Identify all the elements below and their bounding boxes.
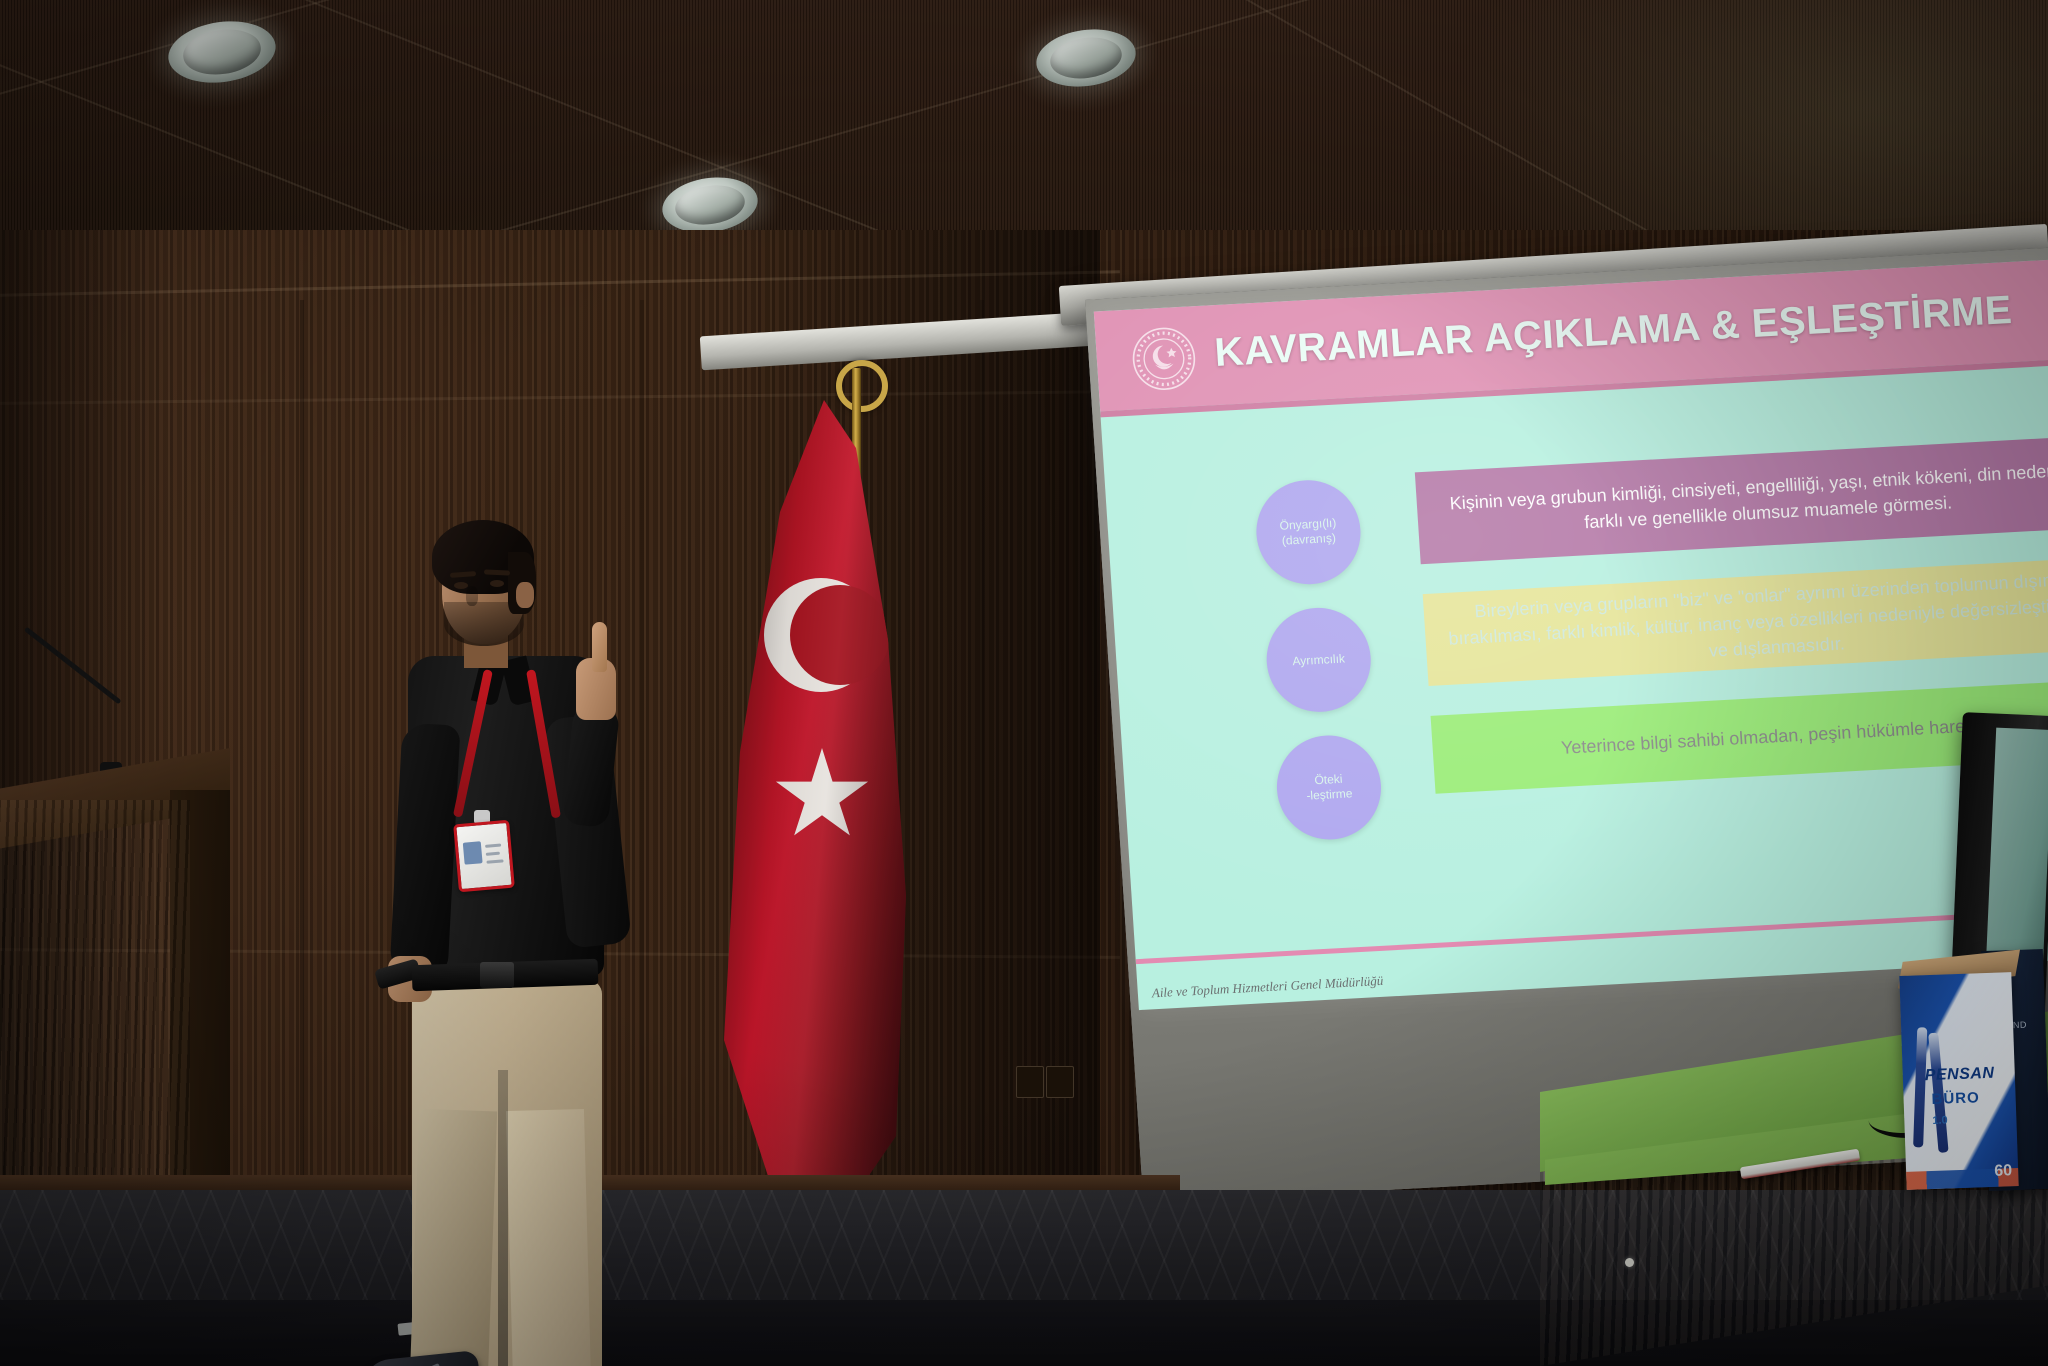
definition-box-yellow: Bireylerin veya grupların "biz" ve "onla…: [1423, 556, 2048, 686]
pen-box-brand: PENSAN: [1924, 1064, 2013, 1085]
concept-circle-otekilestirme: Öteki -leştirme: [1274, 733, 1385, 842]
concept-circle-ayrimcilik: Ayrımcılık: [1263, 605, 1374, 714]
definition-box-pink: Kişinin veya grubun kimliği, cinsiyeti, …: [1415, 435, 2048, 565]
pen-box-count: 60: [1994, 1162, 2012, 1181]
presenter-index-finger: [592, 622, 607, 672]
belt-buckle: [480, 962, 514, 988]
presenter-eye-right: [490, 580, 504, 587]
definition-text: Yeterince bilgi sahibi olmadan, peşin hü…: [1560, 711, 2005, 761]
definition-text: Kişinin veya grubun kimliği, cinsiyeti, …: [1438, 456, 2048, 544]
turkish-ministry-emblem-icon: [1129, 324, 1199, 393]
definition-text: Bireylerin veya grupların "biz" ve "onla…: [1445, 564, 2048, 678]
wooden-lectern: [0, 800, 190, 1240]
presenter-ear: [516, 582, 534, 608]
id-badge: [453, 820, 515, 893]
presenter: [380, 510, 700, 1366]
trouser-seam: [498, 1070, 508, 1366]
slide-footer-rule: [1136, 907, 2048, 964]
presenter-nose: [466, 586, 478, 606]
wall-socket[interactable]: [1046, 1066, 1074, 1098]
presenter-leg-left: [409, 1109, 497, 1366]
flag-finial: [836, 360, 888, 412]
wall-panel-seam: [300, 300, 304, 1200]
badge-photo: [463, 841, 483, 864]
circle-line-1: Öteki: [1314, 772, 1343, 787]
pen-box-product: BÜRO: [1931, 1088, 2012, 1108]
concept-circle-onyargi: Önyargı(lı) (davranış): [1253, 478, 1364, 587]
desk-drawer-knob[interactable]: [1625, 1258, 1634, 1267]
circle-line-2: -leştirme: [1306, 786, 1353, 802]
presentation-room-photo: KAVRAMLAR AÇIKLAMA & EŞLEŞTİRME Önyargı(…: [0, 0, 2048, 1366]
pen-box-size: 1.0: [1932, 1114, 1948, 1127]
presenter-leg-right: [506, 1109, 592, 1366]
presenter-eye-left: [454, 582, 468, 589]
projected-slide: KAVRAMLAR AÇIKLAMA & EŞLEŞTİRME Önyargı(…: [1094, 260, 2048, 1010]
definition-box-green: Yeterince bilgi sahibi olmadan, peşin hü…: [1431, 678, 2048, 794]
pen-box-pensan: PENSAN BÜRO 1.0 60: [1899, 972, 2018, 1190]
wall-socket[interactable]: [1016, 1066, 1044, 1098]
circle-line-1: Ayrımcılık: [1292, 651, 1345, 668]
circle-line-2: (davranış): [1281, 531, 1336, 548]
